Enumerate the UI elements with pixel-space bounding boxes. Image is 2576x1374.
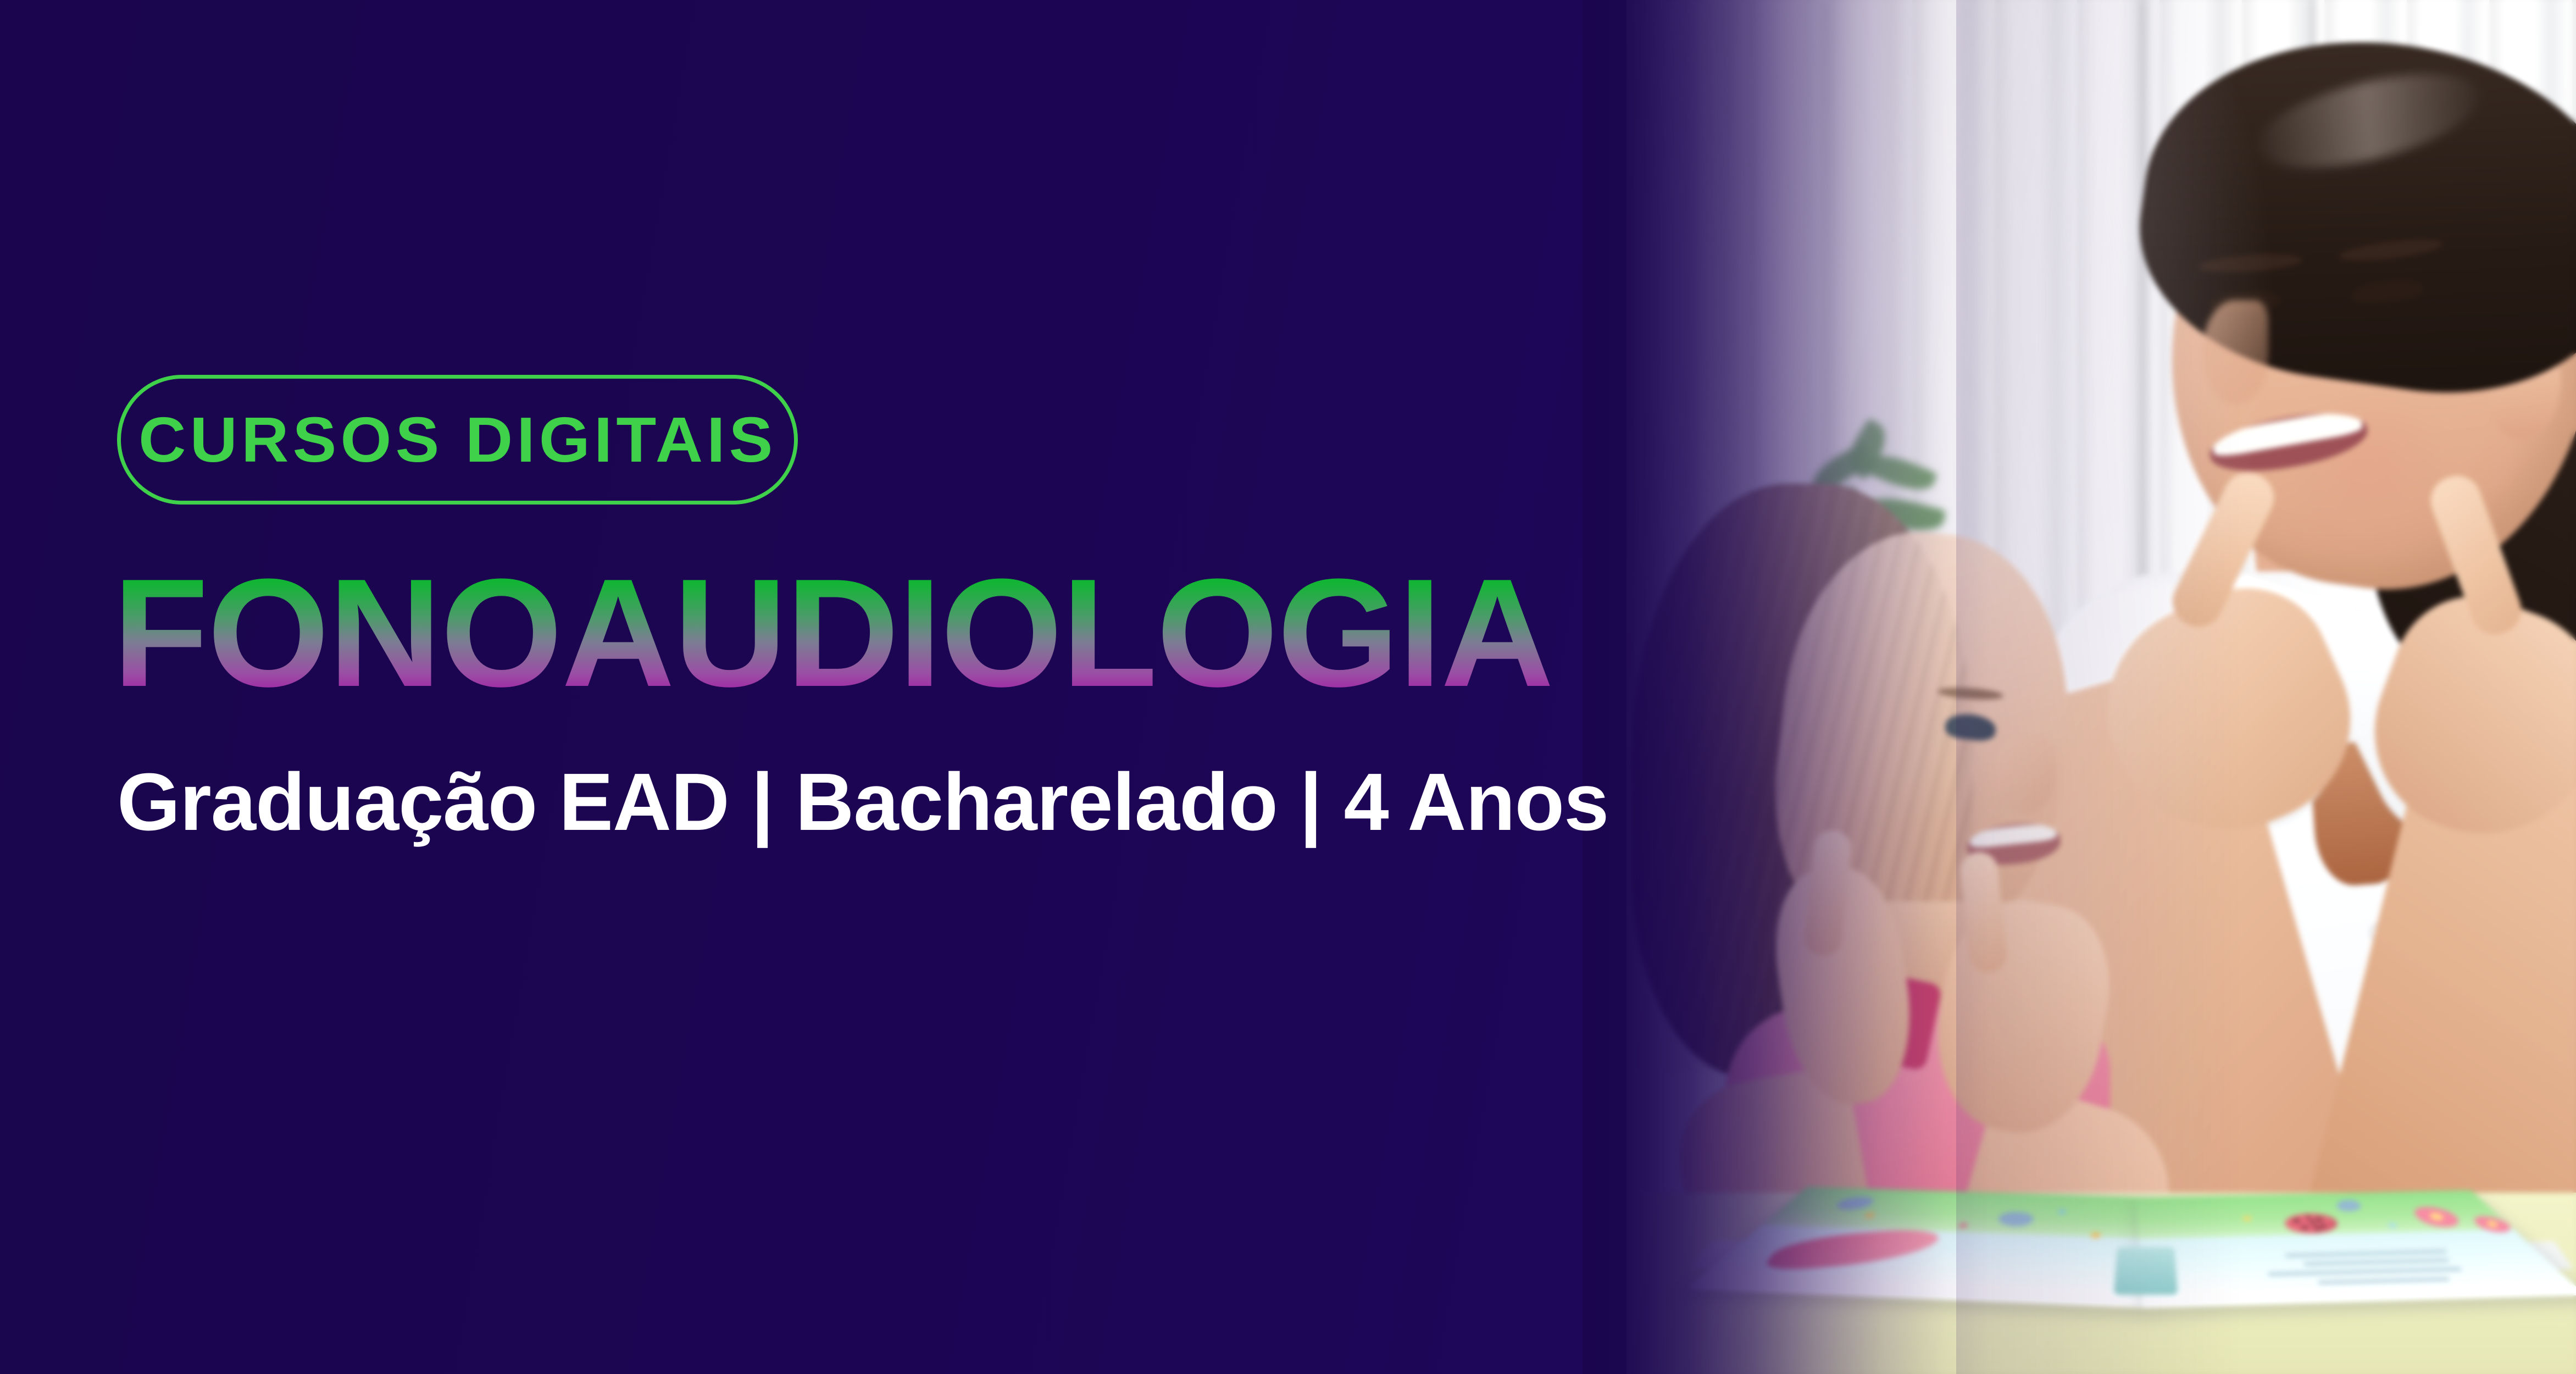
course-title: FONOAUDIOLOGIA bbox=[113, 556, 1553, 710]
therapist-cheek bbox=[2286, 385, 2451, 550]
course-hero-banner: CURSOS DIGITAIS FONOAUDIOLOGIA Graduação… bbox=[0, 0, 2576, 1374]
course-category-badge: CURSOS DIGITAIS bbox=[117, 375, 798, 505]
purple-soft-fade bbox=[1956, 0, 2242, 1374]
course-subtitle: Graduação EAD | Bacharelado | 4 Anos bbox=[117, 762, 1608, 843]
hero-text-content: CURSOS DIGITAIS FONOAUDIOLOGIA Graduação… bbox=[117, 0, 1601, 1374]
purple-to-photo-fade bbox=[1583, 0, 1989, 1374]
course-category-label: CURSOS DIGITAIS bbox=[138, 408, 776, 472]
